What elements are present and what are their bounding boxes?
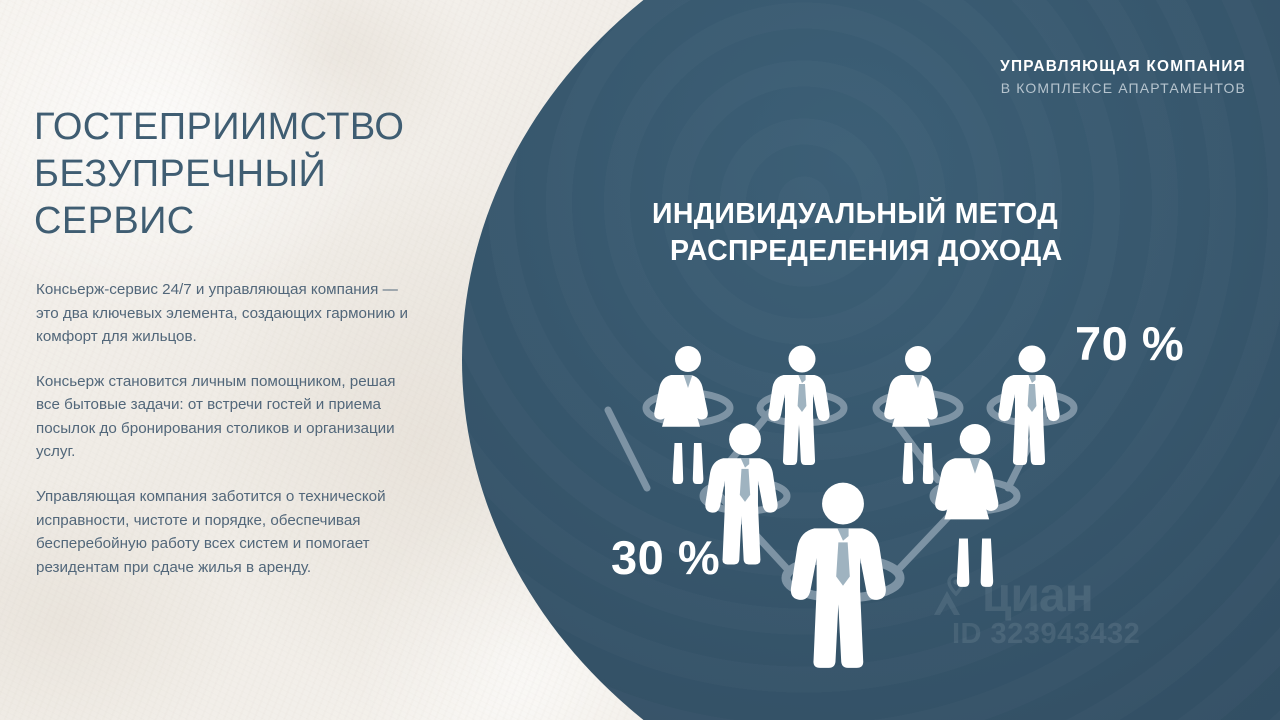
percentage-30-label: 30 % — [611, 530, 720, 585]
brand-lockup: УПРАВЛЯЮЩАЯ КОМПАНИЯ В КОМПЛЕКСЕ АПАРТАМ… — [1000, 58, 1246, 96]
brand-title: УПРАВЛЯЮЩАЯ КОМПАНИЯ — [1000, 58, 1246, 76]
watermark: циан ID 323943432 — [930, 572, 1180, 668]
diagram-figure-top-1 — [654, 346, 708, 484]
slide-root: ГОСТЕПРИИМСТВО БЕЗУПРЕЧНЫЙ СЕРВИС Консье… — [0, 0, 1280, 720]
diagram-figure-mid-right — [935, 424, 998, 587]
body-copy: Консьерж-сервис 24/7 и управляющая компа… — [36, 278, 408, 579]
panel-title-line-2: РАСПРЕДЕЛЕНИЯ ДОХОДА — [652, 233, 1172, 270]
headline-line-3: СЕРВИС — [34, 198, 454, 245]
paragraph-concierge-duties: Консьерж становится личным помощником, р… — [36, 370, 408, 464]
watermark-wordmark: циан — [982, 572, 1093, 620]
left-content-column: ГОСТЕПРИИМСТВО БЕЗУПРЕЧНЫЙ СЕРВИС Консье… — [34, 0, 434, 720]
page-title: ГОСТЕПРИИМСТВО БЕЗУПРЕЧНЫЙ СЕРВИС — [34, 104, 454, 245]
brand-subtitle: В КОМПЛЕКСЕ АПАРТАМЕНТОВ — [1000, 80, 1246, 96]
watermark-id: ID 323943432 — [952, 618, 1180, 651]
cian-pin-house-icon — [930, 573, 976, 619]
paragraph-management-company: Управляющая компания заботится о техниче… — [36, 485, 408, 579]
panel-title: ИНДИВИДУАЛЬНЫЙ МЕТОД РАСПРЕДЕЛЕНИЯ ДОХОД… — [652, 196, 1172, 270]
headline-line-2: БЕЗУПРЕЧНЫЙ — [34, 151, 454, 198]
percentage-70-label: 70 % — [1075, 316, 1184, 371]
watermark-logo-row: циан — [930, 572, 1180, 620]
diagram-figure-top-3 — [884, 346, 938, 484]
headline-line-1: ГОСТЕПРИИМСТВО — [34, 104, 454, 151]
paragraph-concierge-intro: Консьерж-сервис 24/7 и управляющая компа… — [36, 278, 408, 349]
panel-title-line-1: ИНДИВИДУАЛЬНЫЙ МЕТОД — [652, 196, 1172, 233]
diagram-figure-top-2 — [768, 346, 829, 466]
